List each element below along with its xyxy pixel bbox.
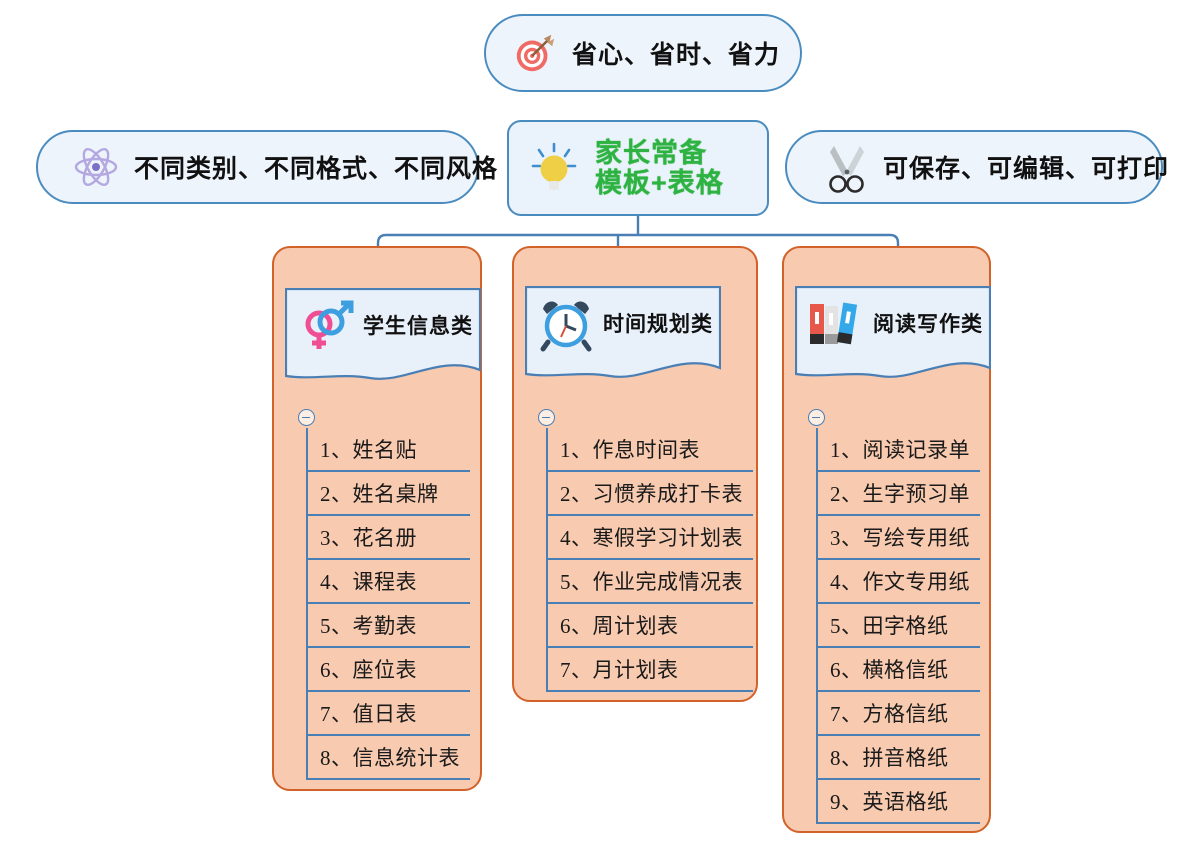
list-item[interactable]: 7、值日表 (306, 692, 470, 736)
collapse-toggle-3[interactable] (808, 409, 825, 426)
item-list-2: 1、作息时间表 2、习惯养成打卡表 4、寒假学习计划表 5、作业完成情况表 6、… (546, 428, 753, 692)
list-item[interactable]: 4、寒假学习计划表 (546, 516, 753, 560)
list-item-label: 4、课程表 (320, 566, 417, 596)
list-item-label: 5、作业完成情况表 (560, 566, 743, 596)
list-item-label: 3、写绘专用纸 (830, 522, 970, 552)
alarm-clock-icon (537, 296, 595, 359)
category-title-1: 学生信息类 (363, 310, 473, 340)
list-item[interactable]: 6、周计划表 (546, 604, 753, 648)
list-item[interactable]: 4、课程表 (306, 560, 470, 604)
list-item-label: 7、月计划表 (560, 654, 679, 684)
central-topic-label: 家长常备 模板+表格 (595, 138, 724, 198)
gender-symbols-icon (297, 296, 357, 361)
list-item-label: 8、拼音格纸 (830, 742, 949, 772)
scissors-icon (821, 141, 873, 193)
list-item-label: 8、信息统计表 (320, 742, 460, 772)
list-item[interactable]: 6、座位表 (306, 648, 470, 692)
list-item-label: 9、英语格纸 (830, 786, 949, 816)
benefit-right-label: 可保存、可编辑、可打印 (883, 149, 1169, 185)
list-item[interactable]: 3、写绘专用纸 (816, 516, 980, 560)
collapse-toggle-1[interactable] (298, 409, 315, 426)
list-item[interactable]: 9、英语格纸 (816, 780, 980, 824)
list-item[interactable]: 5、作业完成情况表 (546, 560, 753, 604)
list-item-label: 7、值日表 (320, 698, 417, 728)
list-item-label: 1、阅读记录单 (830, 434, 970, 464)
central-topic-node[interactable]: 家长常备 模板+表格 (507, 120, 769, 216)
list-item-label: 5、考勤表 (320, 610, 417, 640)
list-item-label: 6、横格信纸 (830, 654, 949, 684)
list-item[interactable]: 2、生字预习单 (816, 472, 980, 516)
list-item[interactable]: 7、月计划表 (546, 648, 753, 692)
list-item-label: 4、寒假学习计划表 (560, 522, 743, 552)
atom-icon (70, 141, 122, 193)
list-item[interactable]: 8、信息统计表 (306, 736, 470, 780)
list-item[interactable]: 2、姓名桌牌 (306, 472, 470, 516)
list-item[interactable]: 5、田字格纸 (816, 604, 980, 648)
benefit-node-left[interactable]: 不同类别、不同格式、不同风格 (36, 130, 479, 204)
item-list-3: 1、阅读记录单 2、生字预习单 3、写绘专用纸 4、作文专用纸 5、田字格纸 6… (816, 428, 980, 824)
list-item[interactable]: 1、阅读记录单 (816, 428, 980, 472)
lightbulb-icon (525, 137, 583, 199)
list-item[interactable]: 4、作文专用纸 (816, 560, 980, 604)
list-item-label: 6、座位表 (320, 654, 417, 684)
category-header-2[interactable]: 时间规划类 (525, 286, 721, 384)
category-header-1[interactable]: 学生信息类 (285, 288, 481, 386)
list-item[interactable]: 6、横格信纸 (816, 648, 980, 692)
benefit-left-label: 不同类别、不同格式、不同风格 (134, 149, 498, 185)
list-item-label: 1、姓名贴 (320, 434, 417, 464)
list-item[interactable]: 5、考勤表 (306, 604, 470, 648)
collapse-toggle-2[interactable] (538, 409, 555, 426)
list-item[interactable]: 8、拼音格纸 (816, 736, 980, 780)
list-item-label: 4、作文专用纸 (830, 566, 970, 596)
category-title-2: 时间规划类 (603, 308, 713, 338)
benefit-node-top[interactable]: 省心、省时、省力 (484, 14, 802, 92)
books-icon (807, 300, 863, 357)
list-item-label: 2、姓名桌牌 (320, 478, 439, 508)
item-list-1: 1、姓名贴 2、姓名桌牌 3、花名册 4、课程表 5、考勤表 6、座位表 7、值… (306, 428, 470, 780)
list-item-label: 5、田字格纸 (830, 610, 949, 640)
benefit-top-label: 省心、省时、省力 (572, 35, 780, 71)
mindmap-canvas: 省心、省时、省力 不同类别、不同格式、不同风格 (0, 0, 1187, 847)
category-header-3[interactable]: 阅读写作类 (795, 286, 991, 384)
list-item[interactable]: 7、方格信纸 (816, 692, 980, 736)
list-item[interactable]: 1、姓名贴 (306, 428, 470, 472)
category-title-3: 阅读写作类 (873, 308, 983, 338)
list-item[interactable]: 3、花名册 (306, 516, 470, 560)
list-item-label: 6、周计划表 (560, 610, 679, 640)
benefit-node-right[interactable]: 可保存、可编辑、可打印 (785, 130, 1163, 204)
dartboard-icon (512, 30, 558, 76)
list-item[interactable]: 2、习惯养成打卡表 (546, 472, 753, 516)
list-item-label: 2、习惯养成打卡表 (560, 478, 743, 508)
list-item[interactable]: 1、作息时间表 (546, 428, 753, 472)
list-item-label: 2、生字预习单 (830, 478, 970, 508)
list-item-label: 3、花名册 (320, 522, 417, 552)
list-item-label: 1、作息时间表 (560, 434, 700, 464)
list-item-label: 7、方格信纸 (830, 698, 949, 728)
